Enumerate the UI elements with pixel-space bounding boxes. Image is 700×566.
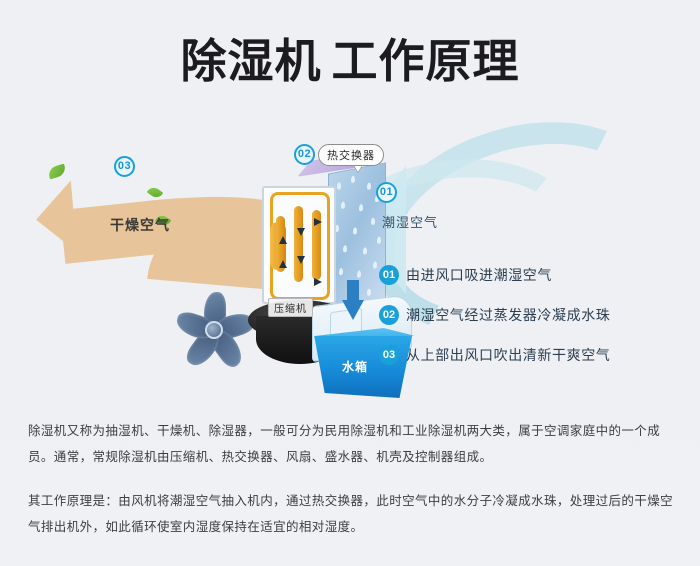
step-badge-03: 03 [379,345,399,365]
page-title-part1: 除湿机 [181,35,322,87]
list-item: 01 由进风口吸进潮湿空气 [379,255,679,295]
diagram-badge-02: 02 [294,144,315,165]
dry-air-label: 干燥空气 [110,215,170,235]
arrow-up-icon [279,260,287,268]
step-text-01: 由进风口吸进潮湿空气 [406,265,552,285]
fan-icon [172,288,256,372]
list-item: 02 潮湿空气经过蒸发器冷凝成水珠 [379,295,679,335]
page-title: 除湿机工作原理 [0,30,700,92]
humid-air-label: 潮湿空气 [382,212,438,231]
leaf-icon [47,163,68,179]
compressor-label: 压缩机 [268,298,313,317]
page-title-part2: 工作原理 [332,35,520,87]
arrow-down-icon [297,256,305,264]
heat-exchanger-callout: 热交换器 [318,144,384,166]
step-text-03: 从上部出风口吹出清新干爽空气 [406,345,610,365]
step-list: 01 由进风口吸进潮湿空气 02 潮湿空气经过蒸发器冷凝成水珠 03 从上部出风… [379,255,679,375]
water-tank-label: 水箱 [342,358,368,375]
diagram-badge-01: 01 [376,182,397,203]
description-paragraph-2: 其工作原理是：由风机将潮湿空气抽入机内，通过热交换器，此时空气中的水分子冷凝成水… [28,488,676,540]
fan-hub [205,321,223,339]
arrow-up-icon [279,236,287,244]
arrow-down-icon [342,300,364,320]
leaf-icon [147,185,164,200]
description-paragraph-1: 除湿机又称为抽湿机、干燥机、除湿器，一般可分为民用除湿机和工业除湿机两大类，属于… [28,418,676,470]
step-text-02: 潮湿空气经过蒸发器冷凝成水珠 [406,305,610,325]
step-badge-01: 01 [379,265,399,285]
list-item: 03 从上部出风口吹出清新干爽空气 [379,335,679,375]
arrow-down-icon [297,228,305,236]
drain-flow-stem [347,280,359,302]
infographic-page: 除湿机工作原理 干燥空气 [0,0,700,566]
step-badge-02: 02 [379,305,399,325]
refrigerant-coil-assembly [262,186,336,304]
diagram-badge-03: 03 [114,156,135,177]
description-block: 除湿机又称为抽湿机、干燥机、除湿器，一般可分为民用除湿机和工业除湿机两大类，属于… [28,418,676,540]
arrow-right-icon [314,218,322,226]
coil-pipe [294,206,303,282]
arrow-right-icon [314,278,322,286]
